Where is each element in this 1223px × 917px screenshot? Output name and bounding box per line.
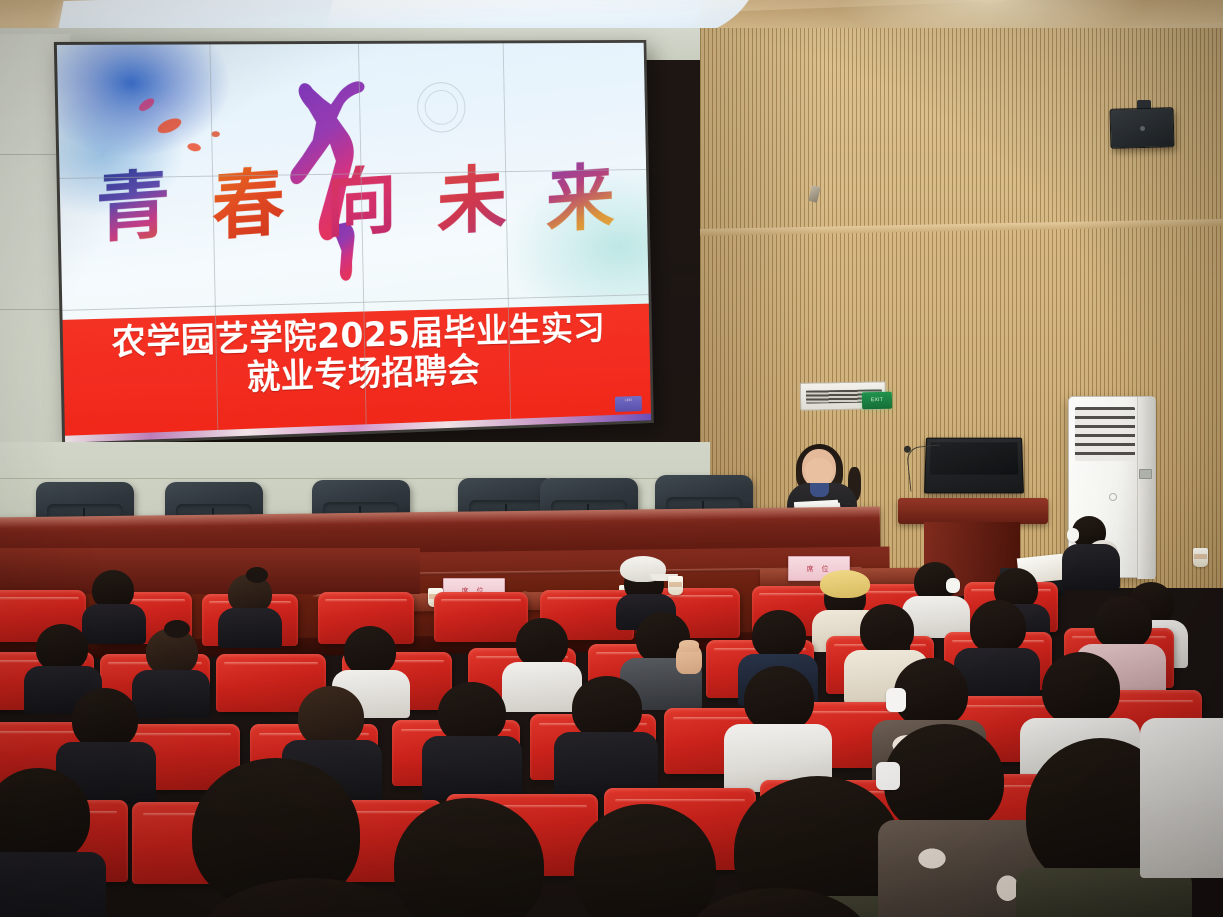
head bbox=[970, 600, 1026, 654]
ac-display bbox=[1139, 469, 1152, 479]
hair-bun bbox=[246, 567, 268, 583]
raised-hand-icon bbox=[676, 644, 702, 674]
presenter-face bbox=[805, 458, 833, 485]
audience-member-foreground bbox=[1140, 698, 1223, 878]
face-mask-icon bbox=[946, 578, 960, 593]
paper-cup-icon bbox=[668, 576, 683, 595]
exit-sign: EXIT bbox=[862, 392, 892, 410]
yellow-cap-icon bbox=[820, 570, 870, 598]
audience-member bbox=[216, 574, 286, 638]
head bbox=[344, 626, 396, 676]
head bbox=[200, 878, 420, 917]
body bbox=[1140, 718, 1223, 878]
head bbox=[1094, 596, 1152, 650]
calligraphy-char-4: 未 bbox=[437, 162, 507, 241]
presenter-collar bbox=[810, 483, 829, 497]
body bbox=[218, 608, 282, 648]
head bbox=[0, 768, 90, 864]
calligraphy-char-1: 青 bbox=[95, 166, 169, 247]
audience-member bbox=[420, 682, 524, 786]
lectern-microphone-icon bbox=[906, 444, 944, 491]
body bbox=[0, 852, 106, 917]
head bbox=[36, 624, 88, 672]
audience-member-foreground bbox=[686, 888, 876, 917]
head bbox=[744, 666, 814, 732]
audience-member-foreground bbox=[200, 878, 430, 917]
audience-member bbox=[552, 676, 660, 782]
head bbox=[72, 688, 138, 750]
led-video-wall: 青 春 向 未 来 农学园艺学院2025届毕业生实习 就业专场招聘会 LED bbox=[54, 40, 654, 446]
head bbox=[1042, 652, 1120, 726]
face-mask-icon bbox=[886, 688, 906, 712]
screen-watermark-label: LED bbox=[615, 396, 642, 405]
audience-area bbox=[0, 548, 1223, 917]
ac-power-dot-icon bbox=[1109, 493, 1117, 501]
head bbox=[572, 676, 642, 740]
calligraphy-char-2: 春 bbox=[212, 165, 285, 245]
loudspeaker-icon bbox=[1109, 107, 1174, 149]
screen-watermark-badge: LED bbox=[615, 396, 642, 412]
calligraphy-char-5: 来 bbox=[546, 160, 615, 238]
audience-member bbox=[724, 666, 834, 776]
lectern-top bbox=[898, 498, 1048, 524]
hair-bun bbox=[164, 620, 190, 638]
audience-rear-panel bbox=[0, 548, 420, 594]
ac-grille bbox=[1075, 407, 1135, 461]
screen-surface: 青 春 向 未 来 农学园艺学院2025届毕业生实习 就业专场招聘会 LED bbox=[57, 43, 651, 443]
head bbox=[686, 888, 870, 917]
head bbox=[752, 610, 806, 660]
head bbox=[298, 686, 364, 748]
head bbox=[438, 682, 506, 744]
exit-sign-label: EXIT bbox=[862, 392, 892, 410]
body bbox=[422, 736, 522, 800]
calligraphy-row: 青 春 向 未 来 bbox=[58, 107, 648, 304]
auditorium-photo: EXIT bbox=[0, 0, 1223, 917]
face-mask-icon bbox=[876, 762, 900, 790]
face-mask-icon bbox=[1067, 528, 1079, 542]
head bbox=[884, 724, 1004, 834]
audience-member-foreground bbox=[0, 768, 110, 917]
